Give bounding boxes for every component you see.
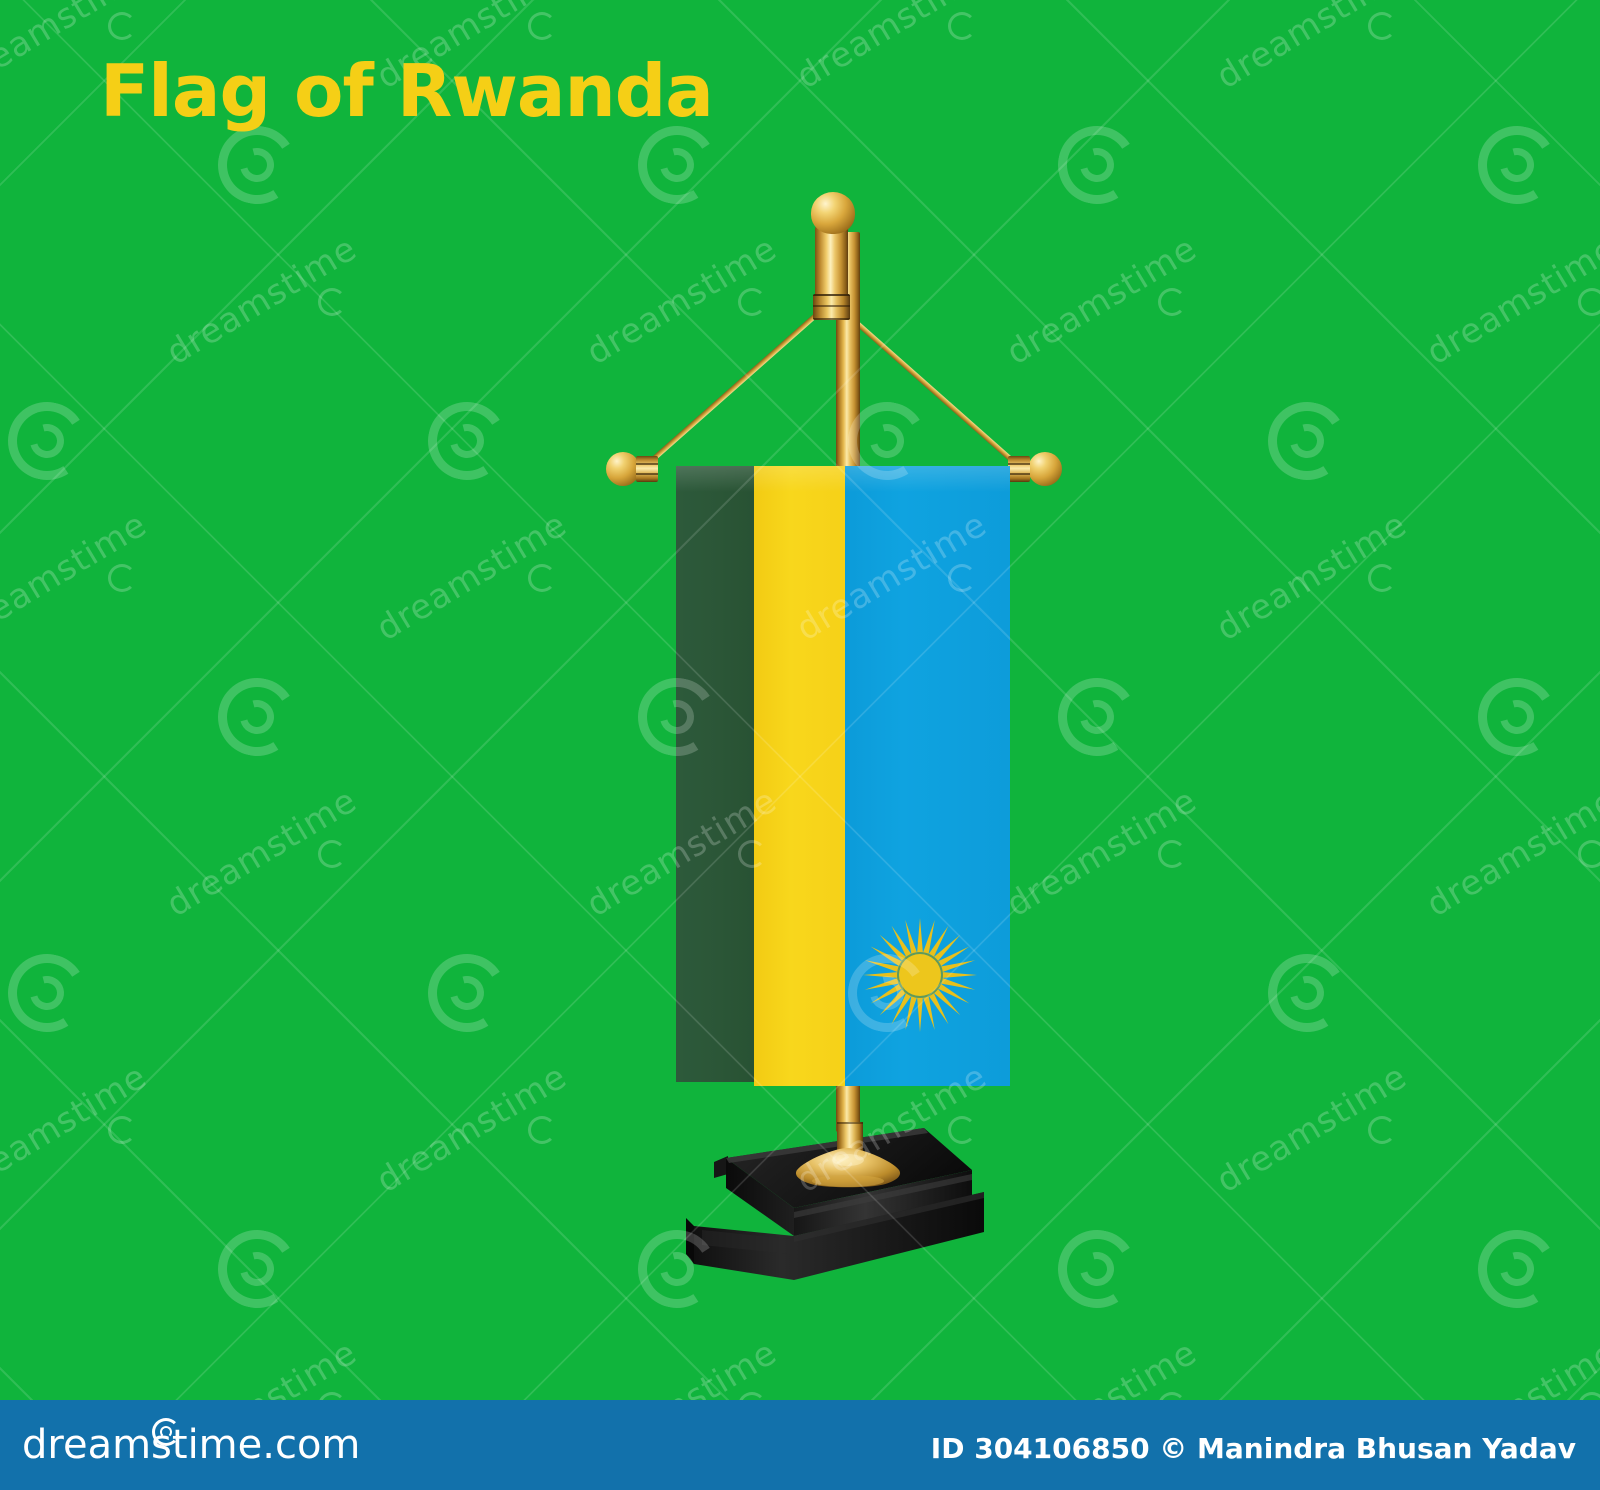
dreamstime-logo-text[interactable]: dreamstime.com	[22, 1422, 360, 1468]
finial-ball-icon	[811, 192, 855, 234]
right-cord	[843, 311, 1021, 469]
left-cord	[643, 311, 821, 469]
sun-emblem-svg	[862, 917, 978, 1033]
left-bar-ferrule	[636, 456, 658, 482]
left-bar-end-ball-icon	[606, 452, 640, 486]
credit-text: ID 304106850 © Manindra Bhusan Yadav	[931, 1432, 1576, 1465]
mast-collar-rings	[813, 294, 850, 320]
green-stripe	[676, 466, 754, 1082]
right-bar-end-ball-icon	[1028, 452, 1062, 486]
right-bar-ferrule	[1008, 456, 1030, 482]
image-canvas: dreamstimedreamstimedreamstimedreamstime…	[0, 0, 1600, 1490]
yellow-stripe	[754, 466, 845, 1086]
page-title: Flag of Rwanda	[100, 52, 713, 131]
footer-bar: dreamstime.com ID 304106850 © Manindra B…	[0, 1400, 1600, 1490]
sun-emblem-icon	[862, 917, 978, 1033]
flared-foot	[787, 1122, 909, 1178]
spiral-icon	[152, 1418, 180, 1446]
flared-foot-svg	[787, 1146, 909, 1202]
mast-upper-shaft	[815, 226, 848, 298]
